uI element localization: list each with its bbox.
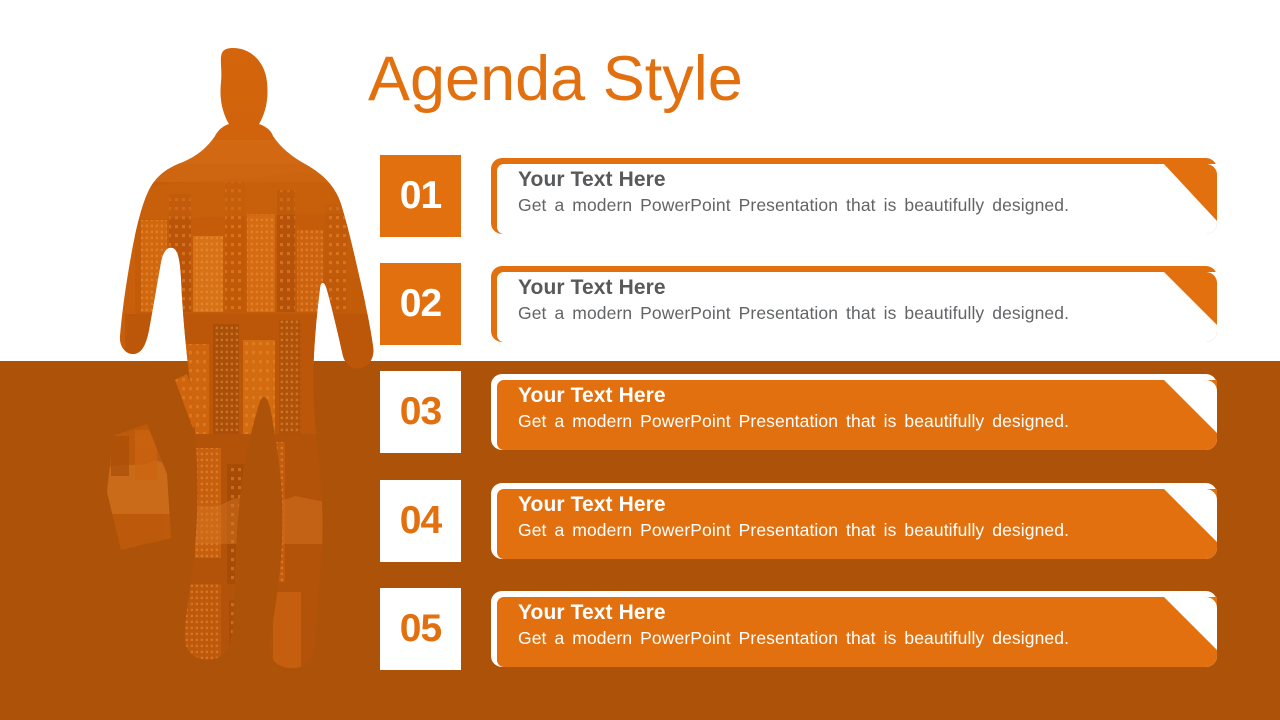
agenda-banner-text-05: Your Text Here Get a modern PowerPoint P… <box>518 600 1178 651</box>
agenda-banner-05[interactable]: Your Text Here Get a modern PowerPoint P… <box>488 588 1220 670</box>
agenda-heading-01: Your Text Here <box>518 167 1178 193</box>
agenda-number-badge-05: 05 <box>380 588 461 670</box>
agenda-banner-02[interactable]: Your Text Here Get a modern PowerPoint P… <box>488 263 1220 345</box>
agenda-banner-text-01: Your Text Here Get a modern PowerPoint P… <box>518 167 1178 218</box>
agenda-row-01[interactable]: 01 Your Text Here Get a modern PowerPoin… <box>380 155 1220 237</box>
agenda-number-badge-03: 03 <box>380 371 461 453</box>
agenda-number-badge-01: 01 <box>380 155 461 237</box>
agenda-banner-03[interactable]: Your Text Here Get a modern PowerPoint P… <box>488 371 1220 453</box>
agenda-banner-01[interactable]: Your Text Here Get a modern PowerPoint P… <box>488 155 1220 237</box>
agenda-heading-05: Your Text Here <box>518 600 1178 626</box>
agenda-banner-text-02: Your Text Here Get a modern PowerPoint P… <box>518 275 1178 326</box>
agenda-body-02: Get a modern PowerPoint Presentation tha… <box>518 301 1178 326</box>
page-title: Agenda Style <box>368 46 743 112</box>
agenda-banner-04[interactable]: Your Text Here Get a modern PowerPoint P… <box>488 480 1220 562</box>
agenda-number-badge-04: 04 <box>380 480 461 562</box>
agenda-slide: Agenda Style 01 Your Text Here Get a mod… <box>0 0 1280 720</box>
agenda-number-badge-02: 02 <box>380 263 461 345</box>
agenda-body-05: Get a modern PowerPoint Presentation tha… <box>518 626 1178 651</box>
agenda-banner-text-03: Your Text Here Get a modern PowerPoint P… <box>518 383 1178 434</box>
agenda-heading-02: Your Text Here <box>518 275 1178 301</box>
businessman-silhouette-figure <box>55 44 385 684</box>
agenda-banner-text-04: Your Text Here Get a modern PowerPoint P… <box>518 492 1178 543</box>
agenda-row-03[interactable]: 03 Your Text Here Get a modern PowerPoin… <box>380 371 1220 453</box>
agenda-heading-03: Your Text Here <box>518 383 1178 409</box>
agenda-body-03: Get a modern PowerPoint Presentation tha… <box>518 409 1178 434</box>
agenda-body-04: Get a modern PowerPoint Presentation tha… <box>518 518 1178 543</box>
agenda-heading-04: Your Text Here <box>518 492 1178 518</box>
agenda-row-05[interactable]: 05 Your Text Here Get a modern PowerPoin… <box>380 588 1220 670</box>
agenda-body-01: Get a modern PowerPoint Presentation tha… <box>518 193 1178 218</box>
agenda-row-04[interactable]: 04 Your Text Here Get a modern PowerPoin… <box>380 480 1220 562</box>
agenda-row-02[interactable]: 02 Your Text Here Get a modern PowerPoin… <box>380 263 1220 345</box>
